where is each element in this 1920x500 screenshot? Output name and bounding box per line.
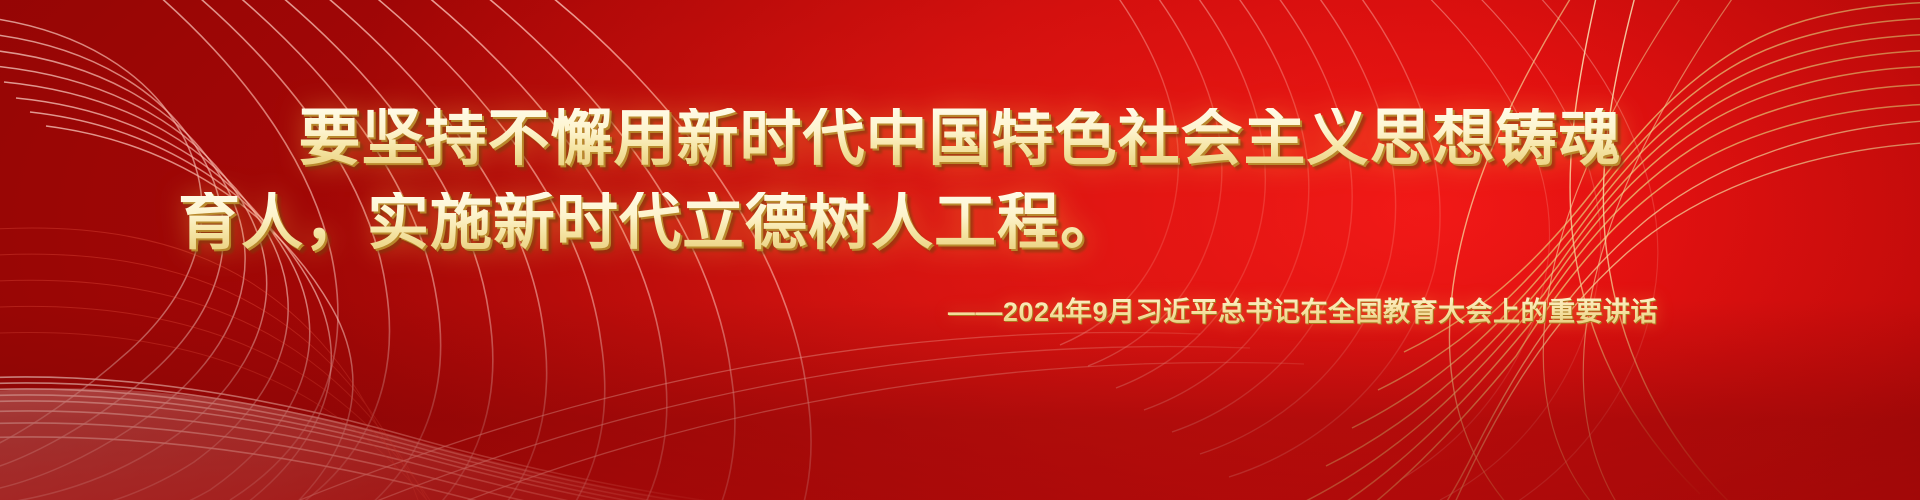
banner-content: 要坚持不懈用新时代中国特色社会主义思想铸魂 育人，实施新时代立德树人工程。 ——… bbox=[0, 0, 1920, 500]
banner-root: 要坚持不懈用新时代中国特色社会主义思想铸魂 育人，实施新时代立德树人工程。 ——… bbox=[0, 0, 1920, 500]
headline-line-1: 要坚持不懈用新时代中国特色社会主义思想铸魂 bbox=[0, 108, 1920, 170]
headline-line-2: 育人，实施新时代立德树人工程。 bbox=[178, 192, 1123, 254]
attribution-text: ——2024年9月习近平总书记在全国教育大会上的重要讲话 bbox=[0, 290, 1658, 329]
